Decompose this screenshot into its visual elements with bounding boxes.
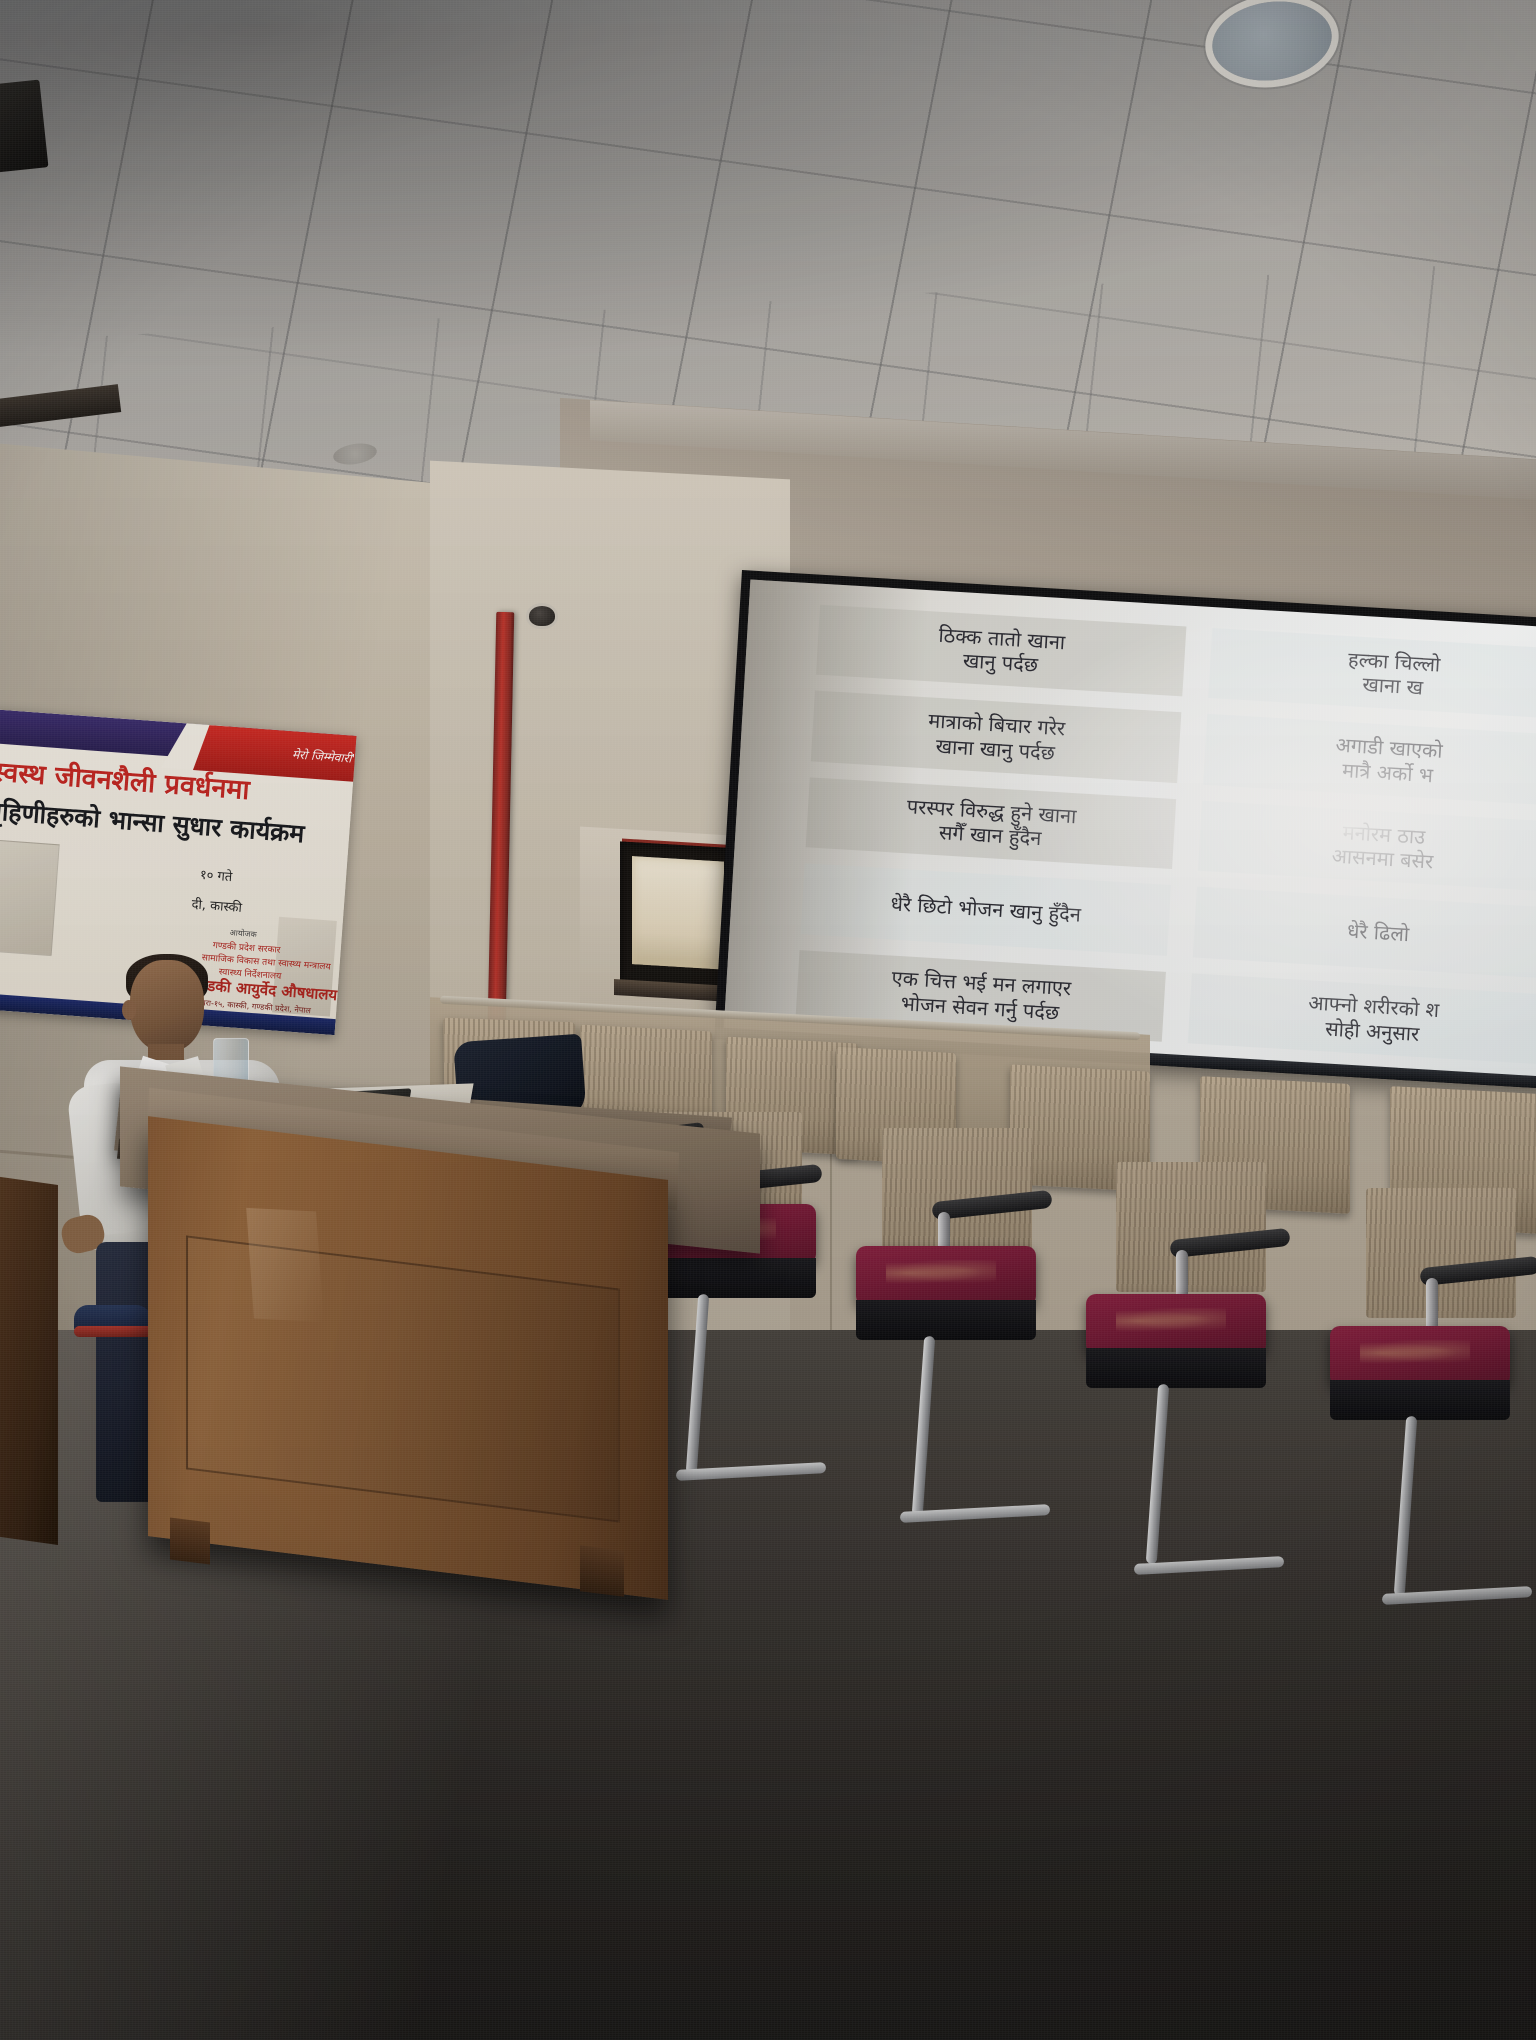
chair-cushion <box>1086 1294 1266 1354</box>
chair-seat-skirt <box>856 1300 1036 1340</box>
podium-foot <box>170 1518 210 1565</box>
ear <box>122 1000 136 1020</box>
slide-grid: ठिक्क तातो खाना खानु पर्दछ हल्का चिल्लो … <box>795 601 1536 1065</box>
chair-seat-skirt <box>1330 1380 1510 1420</box>
chair-cushion <box>856 1246 1036 1306</box>
slide-cell: मात्राको बिचार गरेर खाना खानु पर्दछ <box>811 691 1182 783</box>
podium-highlight <box>246 1208 324 1322</box>
chair-seat-skirt <box>1086 1348 1266 1388</box>
banner-organizer-label: आयोजक <box>229 927 257 940</box>
wooden-cabinet <box>0 1175 58 1545</box>
banner-photo <box>0 839 60 956</box>
chair-backrest <box>1116 1162 1266 1292</box>
banner-detail-2: दी, कास्की <box>191 894 242 916</box>
chair-cushion <box>1330 1326 1510 1386</box>
slide-cell: अगाडी खाएको मात्रै अर्को भ <box>1203 714 1536 806</box>
projection-screen[interactable]: ठिक्क तातो खाना खानु पर्दछ हल्का चिल्लो … <box>714 570 1536 1089</box>
shoe-sole <box>74 1326 154 1337</box>
dome-camera-icon <box>529 606 555 626</box>
slide-cell: मनोरम ठाउ आसनमा बसेर <box>1198 800 1536 892</box>
slide-cell: धेरै छिटो भोजन खानु हुँदैन <box>801 863 1172 955</box>
slide-cell: हल्का चिल्लो खाना ख <box>1208 628 1536 720</box>
head <box>130 960 204 1052</box>
banner-tagline-right: मेरो जिम्मेवारी" <box>291 745 356 767</box>
window-pane <box>632 856 724 969</box>
chair-backrest <box>1366 1188 1516 1318</box>
slide-cell: ठिक्क तातो खाना खानु पर्दछ <box>816 605 1187 697</box>
chair-backrest <box>882 1128 1032 1258</box>
banner-detail-1: १० गते <box>199 865 233 885</box>
podium-foot <box>580 1545 624 1596</box>
slide-cell: धेरै ढिलो <box>1193 887 1536 979</box>
photo-scene: ठिक्क तातो खाना खानु पर्दछ हल्का चिल्लो … <box>0 0 1536 2040</box>
slide-cell: परस्पर विरुद्ध हुने खाना सगैँ खान हुँदैन <box>806 777 1177 869</box>
